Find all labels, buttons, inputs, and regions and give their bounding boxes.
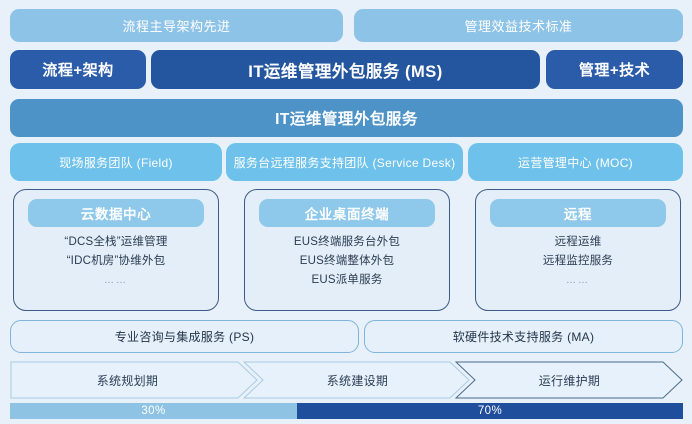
progress-segment-30: 30% [10,403,297,419]
phase-label-0: 系统规划期 [20,361,235,399]
headline-center-label: IT运维管理外包服务 (MS) [248,58,443,82]
domain-line: “DCS全栈”运维管理 [64,235,167,250]
phase-label-2: 运行维护期 [467,361,672,399]
value-pill-1: 管理效益技术标准 [354,9,683,42]
domain-card-cloud-datacenter-lines: “DCS全栈”运维管理 “IDC机房”协维外包 …… [14,235,218,288]
domain-line: “IDC机房”协维外包 [67,254,166,269]
progress-segment-70: 70% [297,403,683,419]
team-pill-service-desk-label: 服务台远程服务支持团队 (Service Desk) [234,154,456,171]
progress-segment-30-label: 30% [141,405,165,417]
phase-label-1: 系统建设期 [255,361,460,399]
phase-label-1-text: 系统建设期 [327,372,389,389]
headline-right-label: 管理+技术 [579,59,650,80]
domain-card-remote: 远程 远程运维 远程监控服务 …… [475,189,681,311]
domain-card-enterprise-desktop-title-text: 企业桌面终端 [305,203,390,223]
phase-chevron-group: 系统规划期 系统建设期 运行维护期 [10,361,683,399]
domain-card-cloud-datacenter-title-text: 云数据中心 [81,203,152,223]
domain-card-cloud-datacenter: 云数据中心 “DCS全栈”运维管理 “IDC机房”协维外包 …… [13,189,219,311]
domain-line: EUS派单服务 [311,273,382,288]
support-service-ps-label: 专业咨询与集成服务 (PS) [115,328,255,345]
headline-center: IT运维管理外包服务 (MS) [151,50,540,89]
value-pill-0-label: 流程主导架构先进 [122,16,230,35]
support-service-ps: 专业咨询与集成服务 (PS) [10,320,359,353]
domain-card-remote-lines: 远程运维 远程监控服务 …… [476,235,680,288]
team-pill-field: 现场服务团队 (Field) [10,143,222,181]
phase-label-0-text: 系统规划期 [97,372,159,389]
domain-line: 远程监控服务 [543,254,613,269]
domain-line: 远程运维 [555,235,602,250]
domain-card-cloud-datacenter-title: 云数据中心 [28,199,204,227]
headline-left: 流程+架构 [10,50,146,89]
domain-line: EUS终端整体外包 [300,254,394,269]
value-pill-0: 流程主导架构先进 [10,9,343,42]
phase-label-2-text: 运行维护期 [539,372,601,389]
team-pill-moc: 运营管理中心 (MOC) [468,143,683,181]
headline-left-label: 流程+架构 [42,59,113,80]
value-pill-1-label: 管理效益技术标准 [464,16,572,35]
progress-segment-70-label: 70% [478,405,502,417]
team-pill-moc-label: 运营管理中心 (MOC) [518,154,633,171]
diagram-canvas: 流程主导架构先进 管理效益技术标准 流程+架构 IT运维管理外包服务 (MS) … [0,0,692,424]
domain-line-ellipsis: …… [566,273,590,288]
headline-right: 管理+技术 [546,50,683,89]
support-service-ma: 软硬件技术支持服务 (MA) [364,320,683,353]
service-bar-label: IT运维管理外包服务 [275,107,418,129]
domain-card-remote-title-text: 远程 [564,203,592,223]
team-pill-field-label: 现场服务团队 (Field) [59,154,173,171]
domain-card-enterprise-desktop-lines: EUS终端服务台外包 EUS终端整体外包 EUS派单服务 [245,235,449,288]
domain-card-enterprise-desktop-title: 企业桌面终端 [259,199,435,227]
progress-bar: 30% 70% [10,403,683,419]
service-bar: IT运维管理外包服务 [10,99,683,137]
team-pill-service-desk: 服务台远程服务支持团队 (Service Desk) [226,143,463,181]
domain-card-enterprise-desktop: 企业桌面终端 EUS终端服务台外包 EUS终端整体外包 EUS派单服务 [244,189,450,311]
domain-line: EUS终端服务台外包 [294,235,400,250]
domain-card-remote-title: 远程 [490,199,666,227]
domain-line-ellipsis: …… [104,273,128,288]
support-service-ma-label: 软硬件技术支持服务 (MA) [453,328,595,345]
